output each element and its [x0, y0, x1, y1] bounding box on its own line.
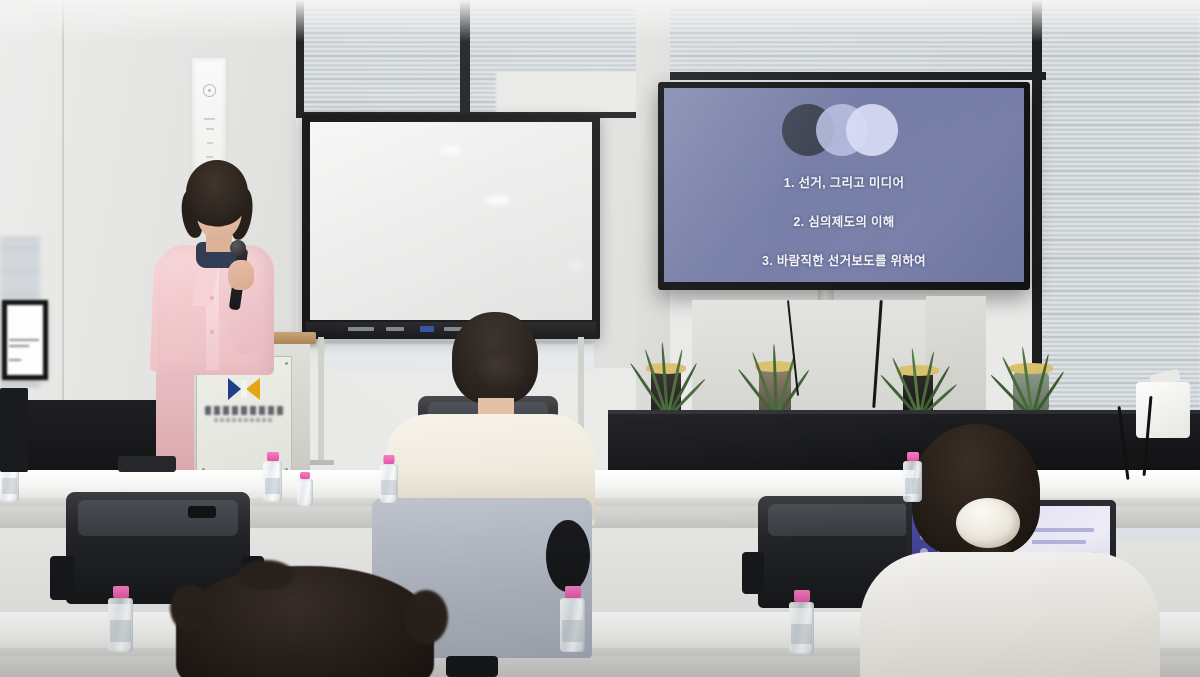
attendee-center-bun — [478, 352, 524, 388]
podium-subtext — [214, 418, 274, 422]
water-bottle[interactable] — [560, 586, 585, 652]
chair-adjust-tab[interactable] — [188, 506, 216, 518]
slide-logo — [782, 104, 906, 156]
emblem-right-wing — [246, 378, 260, 400]
chair-arm[interactable] — [742, 552, 764, 594]
desk-object — [118, 456, 176, 472]
monitor-silhouette — [0, 388, 28, 472]
bottle-label — [791, 624, 812, 644]
banner-text-line — [206, 128, 214, 130]
emblem-left-wing — [228, 378, 241, 400]
desk-mounted-device — [1136, 382, 1190, 438]
circular-logo-icon — [203, 84, 216, 97]
bottle-cap — [300, 472, 310, 479]
whiteboard-stand-foot — [306, 460, 334, 465]
whiteboard-marker[interactable] — [386, 327, 404, 331]
light-circle-icon — [846, 104, 898, 156]
banner-text-line — [207, 142, 213, 144]
mid-circle-icon — [816, 104, 868, 156]
bottle-cap — [565, 586, 581, 598]
whiteboard-glare — [568, 262, 582, 269]
presenter-hair — [186, 160, 248, 226]
attendee-right-body — [860, 552, 1160, 677]
bottle-cap — [384, 455, 395, 464]
potted-plant — [740, 300, 810, 418]
presenter-hand — [228, 260, 254, 290]
jacket-button — [210, 296, 214, 300]
bottle-label — [905, 478, 921, 494]
framed-notice — [2, 300, 48, 380]
bottle-cap — [794, 590, 810, 602]
slide-line-3: 3. 바람직한 선거보도를 위하여 — [664, 250, 1024, 269]
presentation-screen[interactable]: 1. 선거, 그리고 미디어 2. 심의제도의 이해 3. 바람직한 선거보도를… — [664, 88, 1024, 282]
slide-agenda-list: 1. 선거, 그리고 미디어 2. 심의제도의 이해 3. 바람직한 선거보도를… — [664, 172, 1024, 282]
plant-pot-rim — [897, 365, 939, 376]
bottle-label — [110, 620, 131, 642]
slide-line-1: 1. 선거, 그리고 미디어 — [664, 172, 1024, 191]
whiteboard-marker-blue[interactable] — [420, 326, 434, 332]
laptop-content-line — [1032, 528, 1094, 532]
whiteboard-glare — [485, 196, 511, 205]
sign-text-line — [9, 359, 21, 361]
bottle-label — [265, 478, 281, 494]
water-bottle[interactable] — [380, 455, 398, 503]
ceiling-light-glow — [0, 0, 1200, 42]
bottle-label — [2, 478, 18, 494]
banner-text-line — [204, 118, 215, 120]
potted-plant — [880, 302, 956, 418]
water-bottle[interactable] — [263, 452, 282, 502]
hair-wisp — [170, 584, 210, 632]
water-bottle[interactable] — [297, 472, 313, 506]
whiteboard-marker[interactable] — [348, 327, 374, 331]
water-bottle[interactable] — [789, 590, 814, 654]
foreground-object — [446, 656, 498, 677]
sign-text-line — [9, 345, 29, 347]
banner-text-line — [206, 156, 213, 158]
credenza-top-edge — [608, 410, 1200, 414]
emblem-center — [241, 380, 247, 398]
attendee-foreground-hair — [176, 566, 434, 677]
bottle-cap — [907, 452, 919, 461]
hair-wisp — [238, 560, 294, 590]
whiteboard-glare — [440, 146, 462, 154]
white-scrunchie — [956, 498, 1020, 548]
bottle-label — [381, 480, 396, 495]
jacket-button — [210, 330, 214, 334]
chair-back-cutout — [546, 520, 590, 592]
slide-line-2: 2. 심의제도의 이해 — [664, 211, 1024, 230]
dark-circle-icon — [782, 104, 834, 156]
hair-wisp — [404, 590, 448, 644]
microphone-head[interactable] — [230, 240, 246, 256]
sign-text-line — [9, 339, 39, 341]
window-mullion — [660, 72, 1046, 80]
bottle-body — [297, 479, 313, 506]
bottle-label — [562, 620, 583, 642]
water-bottle[interactable] — [903, 452, 922, 502]
potted-plant — [992, 300, 1070, 418]
institution-emblem-icon — [228, 376, 264, 402]
chair-arm[interactable] — [50, 556, 74, 600]
bottle-cap — [113, 586, 129, 598]
potted-plant — [630, 300, 702, 418]
podium-wordmark — [205, 406, 283, 415]
panel-screw — [285, 362, 288, 365]
whiteboard-stand-leg — [318, 337, 324, 463]
chair-mesh-back — [768, 504, 908, 536]
seminar-room-photo: 1. 선거, 그리고 미디어 2. 심의제도의 이해 3. 바람직한 선거보도를… — [0, 0, 1200, 677]
laptop-content-line — [1032, 540, 1086, 544]
water-bottle[interactable] — [108, 586, 133, 652]
bottle-cap — [267, 452, 279, 461]
